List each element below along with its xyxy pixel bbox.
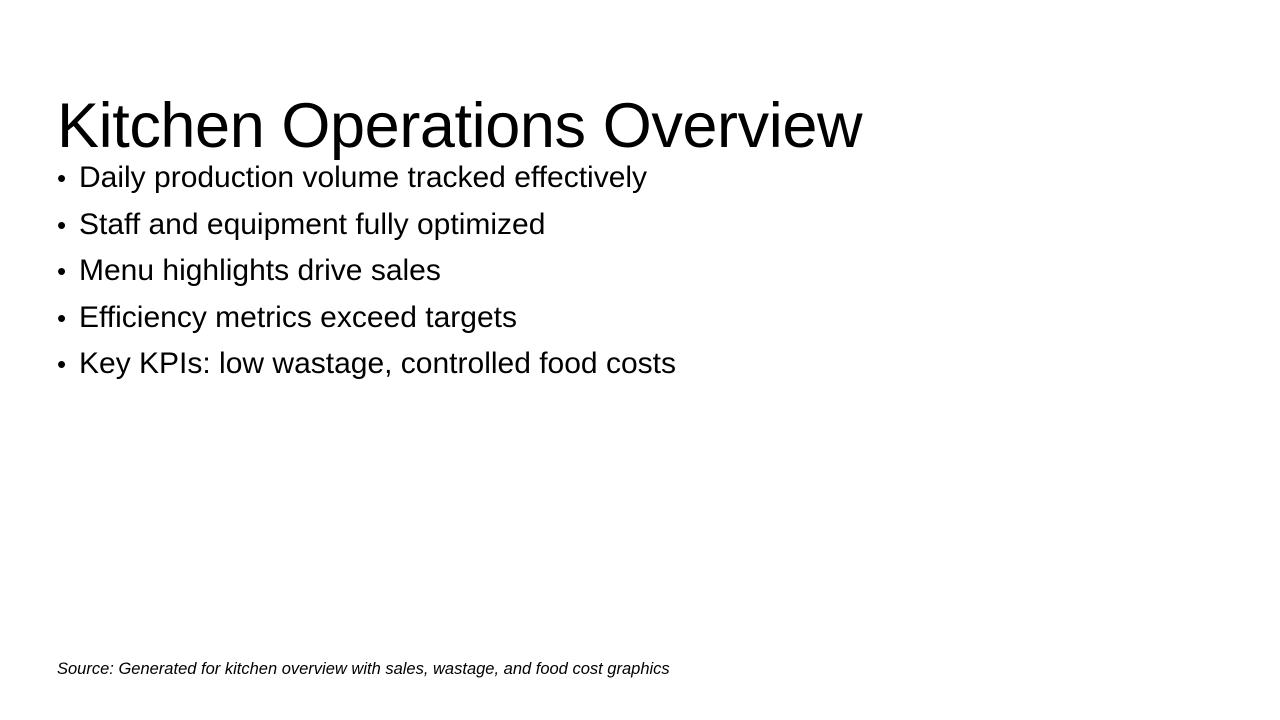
bullet-point-icon: • [57, 248, 79, 295]
source-note: Source: Generated for kitchen overview w… [57, 657, 1207, 681]
list-item: • Key KPIs: low wastage, controlled food… [57, 341, 1207, 388]
presentation-slide: Kitchen Operations Overview • Daily prod… [0, 0, 1280, 720]
list-item-label: Key KPIs: low wastage, controlled food c… [79, 341, 676, 388]
bullet-list: • Daily production volume tracked effect… [57, 155, 1207, 388]
list-item-label: Daily production volume tracked effectiv… [79, 155, 647, 202]
bullet-point-icon: • [57, 341, 79, 388]
list-item-label: Menu highlights drive sales [79, 248, 441, 295]
list-item: • Staff and equipment fully optimized [57, 202, 1207, 249]
list-item: • Efficiency metrics exceed targets [57, 295, 1207, 342]
list-item: • Daily production volume tracked effect… [57, 155, 1207, 202]
bullet-point-icon: • [57, 202, 79, 249]
bullet-point-icon: • [57, 295, 79, 342]
bullet-point-icon: • [57, 155, 79, 202]
list-item: • Menu highlights drive sales [57, 248, 1207, 295]
list-item-label: Staff and equipment fully optimized [79, 202, 545, 249]
page-title: Kitchen Operations Overview [57, 92, 1207, 160]
list-item-label: Efficiency metrics exceed targets [79, 295, 517, 342]
